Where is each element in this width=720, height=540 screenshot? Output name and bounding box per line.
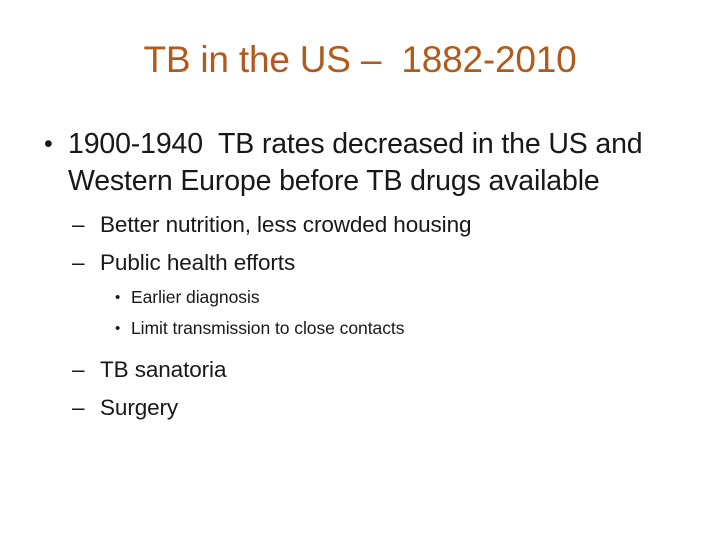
bullet-item-label: Earlier diagnosis	[131, 287, 680, 308]
bullet-item-label: Surgery	[100, 395, 680, 421]
bullet-item-level3-earlier-diagnosis[interactable]: • Earlier diagnosis	[0, 287, 720, 308]
slide-body-content: • 1900-1940 TB rates decreased in the US…	[0, 126, 720, 421]
bullet-item-level2-public-health[interactable]: – Public health efforts	[0, 250, 720, 276]
bullet-dash-icon: –	[72, 250, 84, 276]
bullet-dot-icon: •	[44, 126, 53, 163]
bullet-item-label: Public health efforts	[100, 250, 680, 276]
bullet-item-level1[interactable]: • 1900-1940 TB rates decreased in the US…	[0, 126, 720, 200]
page-title: TB in the US – 1882-2010	[0, 38, 720, 82]
bullet-dash-icon: –	[72, 212, 84, 238]
bullet-item-label: 1900-1940 TB rates decreased in the US a…	[68, 126, 658, 200]
bullet-dash-icon: –	[72, 357, 84, 383]
bullet-item-label: TB sanatoria	[100, 357, 680, 383]
presentation-slide: TB in the US – 1882-2010 • 1900-1940 TB …	[0, 0, 720, 540]
bullet-item-level3-limit-transmission[interactable]: • Limit transmission to close contacts	[0, 318, 720, 339]
bullet-dot-icon: •	[115, 318, 120, 339]
bullet-item-level2-tb-sanatoria[interactable]: – TB sanatoria	[0, 357, 720, 383]
bullet-dash-icon: –	[72, 395, 84, 421]
bullet-item-label: Better nutrition, less crowded housing	[100, 212, 680, 238]
bullet-item-label: Limit transmission to close contacts	[131, 318, 680, 339]
bullet-dot-icon: •	[115, 287, 120, 308]
bullet-item-level2-surgery[interactable]: – Surgery	[0, 395, 720, 421]
bullet-item-level2-nutrition[interactable]: – Better nutrition, less crowded housing	[0, 212, 720, 238]
